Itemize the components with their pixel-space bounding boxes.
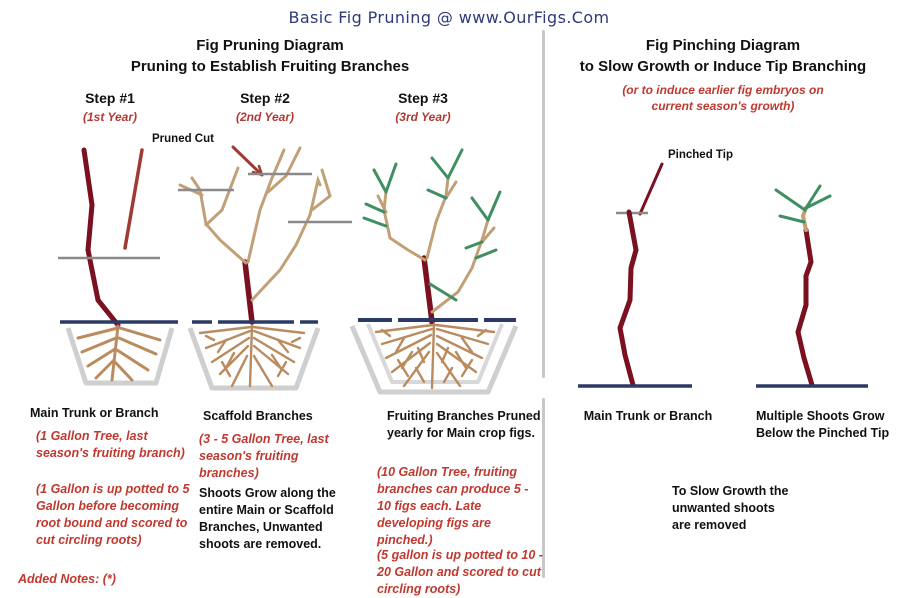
step-3-caption-red-2: (5 gallon is up potted to 10 - 20 Gallon… [377,547,547,598]
pinching-right-diagram [756,186,868,386]
pinching-left-trunk [620,212,636,385]
step-2-caption-red-1: (3 - 5 Gallon Tree, last season's fruiti… [199,431,359,482]
fig-pruning-infographic: Basic Fig Pruning @ www.OurFigs.Com Fig … [0,0,898,598]
step-1-pruned-branch [125,150,142,248]
pinched-tip-pointer [640,164,662,214]
step-1-caption-red-2: (1 Gallon is up potted to 5 Gallon befor… [36,481,191,549]
step-2-caption-heading: Scaffold Branches [203,408,373,425]
step-1-diagram [58,150,178,383]
step-2-diagram [178,147,352,388]
pinching-left-caption: Main Trunk or Branch [573,408,723,425]
step-2-scaffold-branches [180,148,330,300]
step-2-caption-black-1: Shoots Grow along the entire Main or Sca… [199,485,364,553]
pinching-bottom-caption-line1: To Slow Growth the [672,483,788,500]
step-3-diagram [352,150,516,392]
pinching-bottom-caption-line2: unwanted shoots [672,500,775,517]
step-1-main-trunk [84,150,118,325]
step-3-new-growth-shoots [364,150,500,300]
step-3-roots [376,324,494,388]
pinching-left-diagram [578,164,692,386]
pinching-right-trunk [798,230,812,385]
added-notes: Added Notes: (*) [18,572,116,586]
step-2-roots [200,326,304,386]
pinching-bottom-caption-line3: are removed [672,517,746,534]
step-1-caption-heading: Main Trunk or Branch [30,405,190,422]
step-3-caption-heading: Fruiting Branches Pruned yearly for Main… [387,408,547,442]
step-1-caption-red-1: (1 Gallon Tree, last season's fruiting b… [36,428,186,462]
pinching-right-caption-line2: Below the Pinched Tip [756,425,898,442]
step-1-roots [78,326,160,380]
step-3-caption-red-1: (10 Gallon Tree, fruiting branches can p… [377,464,542,549]
pinching-right-caption-line1: Multiple Shoots Grow [756,408,898,425]
step-2-main-trunk [245,262,252,322]
